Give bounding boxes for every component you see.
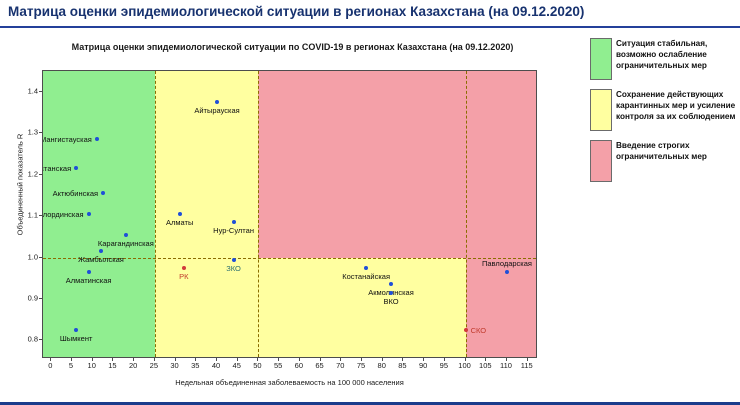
- data-point: [124, 233, 128, 237]
- data-point-label: Мангистауская: [42, 135, 92, 144]
- data-point: [464, 328, 468, 332]
- data-point-label: Шымкент: [60, 334, 93, 343]
- data-point: [182, 266, 186, 270]
- data-point-label: Алматы: [166, 218, 193, 227]
- y-tick-label: 1.3: [22, 128, 38, 137]
- chart-panel: Матрица оценки эпидемиологической ситуац…: [0, 30, 585, 402]
- threshold-line-vertical: [466, 71, 467, 357]
- threshold-line-vertical: [258, 71, 259, 357]
- x-tick-label: 65: [315, 361, 323, 370]
- scatter-plot-area: МангистаускаяТуркестанскаяАктюбинскаяКыз…: [42, 70, 537, 358]
- x-tick-label: 85: [398, 361, 406, 370]
- legend-label-yellow: Сохранение действующих карантинных мер и…: [616, 89, 736, 122]
- y-tick-mark: [39, 339, 42, 340]
- x-tick-label: 45: [233, 361, 241, 370]
- y-tick-mark: [39, 215, 42, 216]
- data-point-label: Туркестанская: [42, 164, 71, 173]
- x-tick-label: 0: [48, 361, 52, 370]
- legend-item: Ситуация стабильная, возможно ослабление…: [590, 38, 736, 80]
- data-point-label: ЗКО: [226, 264, 241, 273]
- x-tick-label: 110: [500, 361, 512, 370]
- data-point: [87, 270, 91, 274]
- data-point-label: Нур-Султан: [213, 226, 254, 235]
- data-point: [232, 258, 236, 262]
- y-tick-label: 0.9: [22, 293, 38, 302]
- legend-label-green: Ситуация стабильная, возможно ослабление…: [616, 38, 736, 71]
- data-point: [364, 266, 368, 270]
- x-tick-label: 80: [378, 361, 386, 370]
- y-tick-label: 1.2: [22, 169, 38, 178]
- x-tick-label: 90: [419, 361, 427, 370]
- y-tick-label: 1.4: [22, 86, 38, 95]
- page-title: Матрица оценки эпидемиологической ситуац…: [8, 4, 584, 19]
- x-tick-label: 115: [521, 361, 533, 370]
- data-point-label: Павлодарская: [482, 259, 532, 268]
- y-tick-mark: [39, 174, 42, 175]
- x-tick-label: 50: [253, 361, 261, 370]
- legend-item: Введение строгих ограничительных мер: [590, 140, 736, 182]
- data-point: [505, 270, 509, 274]
- y-tick-label: 1.0: [22, 252, 38, 261]
- legend-item: Сохранение действующих карантинных мер и…: [590, 89, 736, 131]
- data-point-label: Айтырауская: [194, 106, 239, 115]
- x-tick-label: 5: [69, 361, 73, 370]
- chart-title: Матрица оценки эпидемиологической ситуац…: [0, 42, 585, 52]
- x-axis-label: Недельная объединенная заболеваемость на…: [42, 378, 537, 387]
- data-point-label: Карагандинская: [98, 239, 154, 248]
- data-point: [389, 291, 393, 295]
- data-point: [178, 212, 182, 216]
- data-point-label: Жамбылская: [78, 255, 124, 264]
- x-tick-label: 55: [274, 361, 282, 370]
- threshold-line-vertical: [155, 71, 156, 357]
- x-tick-label: 40: [212, 361, 220, 370]
- x-tick-label: 70: [336, 361, 344, 370]
- x-tick-label: 10: [88, 361, 96, 370]
- header-bar: Матрица оценки эпидемиологической ситуац…: [0, 0, 740, 28]
- y-tick-mark: [39, 132, 42, 133]
- x-tick-label: 95: [440, 361, 448, 370]
- x-tick-label: 35: [191, 361, 199, 370]
- legend-label-red: Введение строгих ограничительных мер: [616, 140, 736, 162]
- y-tick-label: 0.8: [22, 335, 38, 344]
- x-tick-label: 20: [129, 361, 137, 370]
- x-tick-label: 105: [479, 361, 492, 370]
- x-tick-label: 30: [170, 361, 178, 370]
- data-point-label: ВКО: [383, 297, 398, 306]
- data-point: [232, 220, 236, 224]
- data-point-label: Алматинская: [66, 276, 112, 285]
- x-tick-label: 15: [108, 361, 116, 370]
- y-tick-mark: [39, 257, 42, 258]
- legend: Ситуация стабильная, возможно ослабление…: [590, 38, 736, 191]
- data-point: [87, 212, 91, 216]
- data-point-label: СКО: [471, 326, 487, 335]
- x-tick-label: 60: [295, 361, 303, 370]
- y-tick-mark: [39, 91, 42, 92]
- data-point-label: РК: [179, 272, 188, 281]
- x-tick-label: 100: [458, 361, 471, 370]
- x-tick-label: 75: [357, 361, 365, 370]
- x-tick-label: 25: [150, 361, 158, 370]
- y-tick-label: 1.1: [22, 211, 38, 220]
- data-point-label: Костанайская: [342, 272, 390, 281]
- data-point-label: Актюбинская: [53, 189, 98, 198]
- legend-swatch-green: [590, 38, 612, 80]
- legend-swatch-yellow: [590, 89, 612, 131]
- legend-swatch-red: [590, 140, 612, 182]
- data-point-label: Кызылординская: [42, 210, 84, 219]
- y-tick-mark: [39, 298, 42, 299]
- slide-root: Матрица оценки эпидемиологической ситуац…: [0, 0, 740, 405]
